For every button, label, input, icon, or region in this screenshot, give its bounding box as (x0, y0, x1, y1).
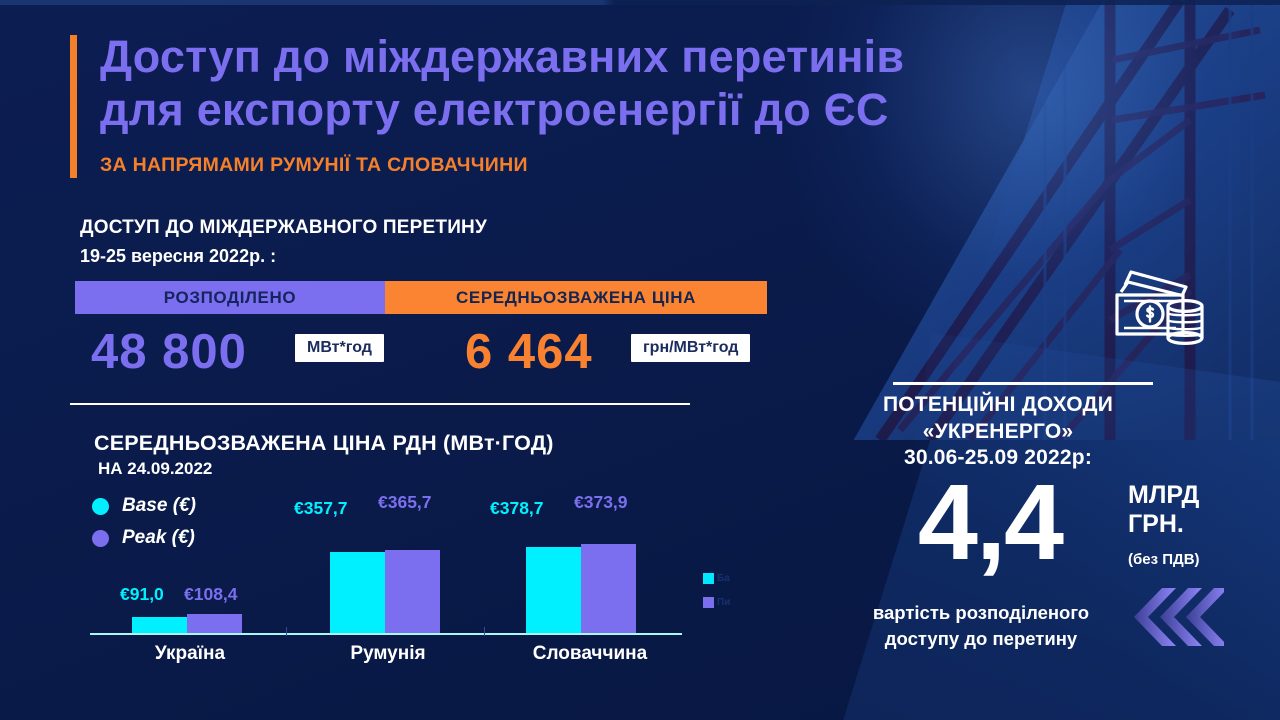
x-axis-label-romania: Румунія (308, 643, 468, 665)
page-subtitle: ЗА НАПРЯМАМИ РУМУНІЇ ТА СЛОВАЧЧИНИ (100, 154, 528, 177)
top-strip (0, 0, 1280, 5)
mini-legend-label-peak: Пи (717, 597, 730, 608)
section-divider (70, 403, 690, 405)
kpi-date: 19-25 вересня 2022р. : (80, 246, 276, 267)
kpi-value-price: 6 464 (465, 322, 593, 382)
right-unit-line1: МЛРД (1128, 481, 1199, 510)
mini-legend-item-base: Ба (703, 566, 730, 590)
title-accent-bar (70, 35, 77, 178)
bar-ukraine-base (132, 617, 187, 633)
chart-plot-area: €91,0 €108,4 €357,7 €365,7 €378,7 €373,9… (90, 470, 690, 635)
page-title-line1: Доступ до міждержавних перетинів (100, 30, 1030, 83)
right-heading-line1: ПОТЕНЦІЙНІ ДОХОДИ (843, 392, 1153, 419)
kpi-tag-allocated: РОЗПОДІЛЕНО (75, 281, 385, 314)
kpi-caption: ДОСТУП ДО МІЖДЕРЖАВНОГО ПЕРЕТИНУ (80, 217, 487, 239)
mini-legend-label-base: Ба (717, 573, 730, 584)
bar-slovakia-base (526, 547, 581, 633)
chart-mini-legend: Ба Пи (703, 566, 730, 614)
bar-label-ukraine-base: €91,0 (120, 584, 164, 605)
kpi-unit-allocated: МВт*год (295, 334, 384, 362)
infographic-canvas: Доступ до міждержавних перетинів для екс… (0, 0, 1280, 720)
page-title-line2: для експорту електроенергії до ЄС (100, 83, 1030, 136)
kpi-tag-row: РОЗПОДІЛЕНО СЕРЕДНЬОЗВАЖЕНА ЦІНА (75, 281, 767, 314)
chevrons-left-icon (1128, 586, 1224, 653)
right-panel-heading: ПОТЕНЦІЙНІ ДОХОДИ «УКРЕНЕРГО» 30.06-25.0… (843, 392, 1153, 472)
bar-romania-base (330, 552, 385, 633)
bar-label-romania-base: €357,7 (294, 498, 348, 519)
mini-swatch-base-icon (703, 573, 714, 584)
chart-x-axis (90, 633, 682, 635)
right-heading-line2: «УКРЕНЕРГО» (843, 419, 1153, 446)
mini-swatch-peak-icon (703, 597, 714, 608)
bar-label-ukraine-peak: €108,4 (184, 584, 238, 605)
money-icon (1112, 266, 1208, 355)
bar-ukraine-peak (187, 614, 242, 633)
kpi-tag-price: СЕРЕДНЬОЗВАЖЕНА ЦІНА (385, 281, 767, 314)
bar-romania-peak (385, 550, 440, 633)
bar-label-romania-peak: €365,7 (378, 492, 432, 513)
bar-label-slovakia-base: €378,7 (490, 498, 544, 519)
bar-group-slovakia (526, 544, 636, 633)
chart-title: СЕРЕДНЬОЗВАЖЕНА ЦІНА РДН (МВт·ГОД) (94, 431, 554, 456)
x-axis-label-ukraine: Україна (110, 643, 270, 665)
right-panel-unit: МЛРД ГРН. (1128, 481, 1199, 538)
page-title: Доступ до міждержавних перетинів для екс… (100, 30, 1030, 136)
kpi-value-row: 48 800 МВт*год 6 464 грн/МВт*год (75, 322, 795, 382)
right-panel-value: 4,4 (880, 468, 1100, 576)
right-panel-divider (893, 382, 1153, 385)
right-panel-footer: вартість розподіленого доступу до перети… (838, 600, 1124, 651)
right-footer-line2: доступу до перетину (838, 626, 1124, 652)
right-footer-line1: вартість розподіленого (838, 600, 1124, 626)
right-panel-note: (без ПДВ) (1128, 551, 1200, 568)
bar-slovakia-peak (581, 544, 636, 633)
bar-group-romania (330, 550, 440, 633)
bar-label-slovakia-peak: €373,9 (574, 492, 628, 513)
x-axis-label-slovakia: Словаччина (500, 643, 680, 665)
mini-legend-item-peak: Пи (703, 590, 730, 614)
axis-tick (484, 627, 485, 636)
kpi-unit-price: грн/МВт*год (631, 334, 750, 362)
kpi-value-allocated: 48 800 (91, 322, 247, 382)
right-unit-line2: ГРН. (1128, 510, 1199, 539)
axis-tick (286, 627, 287, 636)
bar-group-ukraine (132, 614, 242, 633)
